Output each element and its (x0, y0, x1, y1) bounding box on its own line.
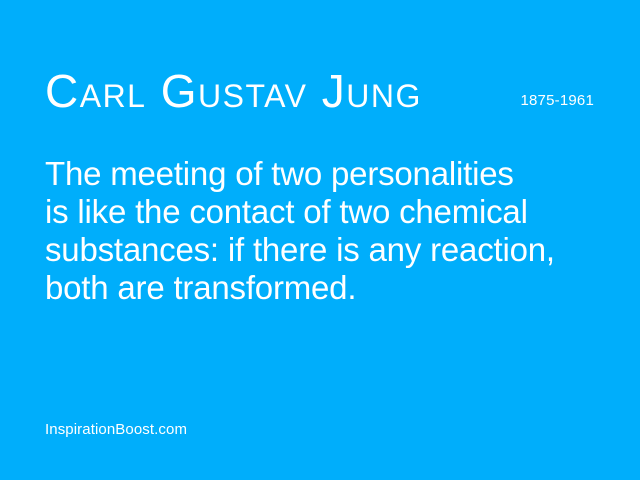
quote-card: Carl Gustav Jung 1875-1961 The meeting o… (0, 0, 640, 480)
author-life-dates: 1875-1961 (520, 93, 594, 108)
author-name: Carl Gustav Jung (45, 68, 422, 114)
quote-text: The meeting of two personalities is like… (45, 155, 620, 307)
quote-header: Carl Gustav Jung 1875-1961 (45, 68, 594, 120)
quote-line: substances: if there is any reaction, (45, 231, 620, 269)
quote-line: both are transformed. (45, 269, 620, 307)
quote-line: The meeting of two personalities (45, 155, 620, 193)
site-credit: InspirationBoost.com (45, 421, 187, 439)
quote-line: is like the contact of two chemical (45, 193, 620, 231)
